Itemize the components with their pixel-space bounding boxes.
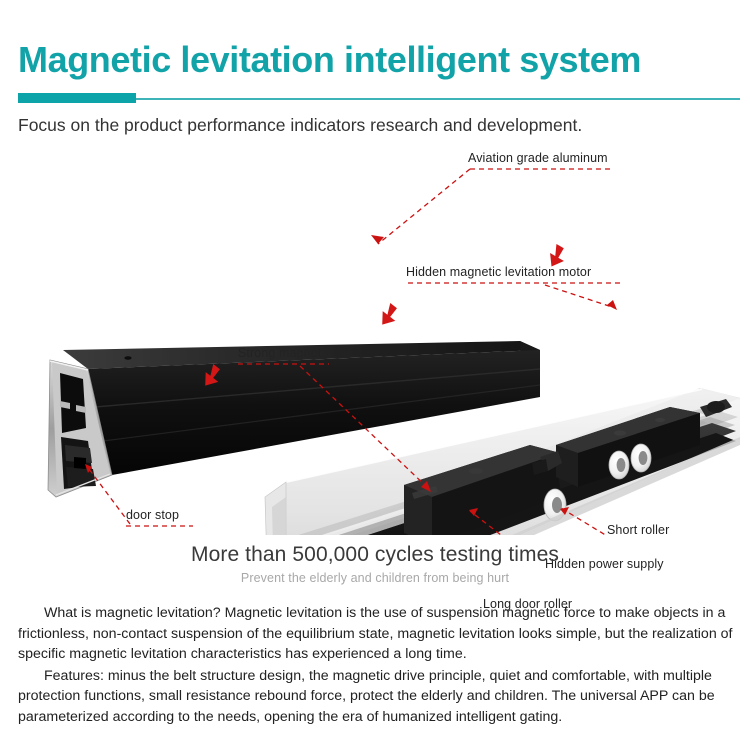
callout-strong-magnet: Strong magnet (238, 346, 321, 360)
direction-arrow-down-right-icon-2 (376, 302, 402, 329)
banner-headline: More than 500,000 cycles testing times (0, 543, 750, 567)
callout-door-stop: door stop (126, 508, 179, 522)
page-title: Magnetic levitation intelligent system (18, 42, 641, 78)
description-paragraph-1: What is magnetic levitation? Magnetic le… (18, 603, 734, 665)
description-paragraph-2: Features: minus the belt structure desig… (18, 666, 734, 728)
product-illustration (0, 145, 750, 535)
callout-hidden-magnetic-levitation-motor: Hidden magnetic levitation motor (406, 265, 591, 279)
callout-aviation-grade-aluminum: Aviation grade aluminum (468, 151, 608, 165)
banner-subline: Prevent the elderly and children from be… (0, 571, 750, 585)
callout-short-roller: Short roller (607, 523, 669, 537)
header-rule-accent (18, 93, 136, 103)
product-diagram: Aviation grade aluminum Hidden magnetic … (0, 145, 750, 535)
page-subtitle: Focus on the product performance indicat… (18, 115, 582, 136)
testing-banner: More than 500,000 cycles testing times P… (0, 543, 750, 585)
description-text: What is magnetic levitation? Magnetic le… (18, 603, 734, 727)
